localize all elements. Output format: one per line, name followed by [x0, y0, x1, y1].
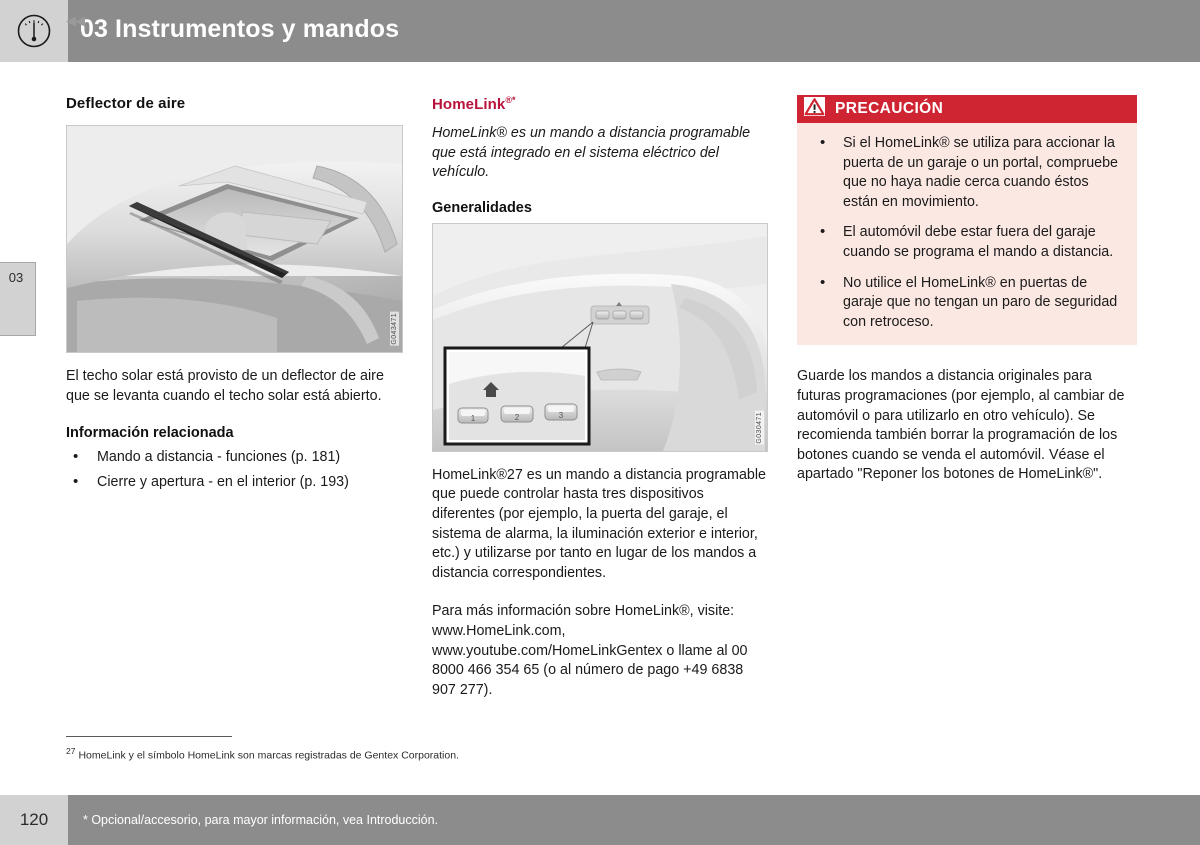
footer-note: * Opcional/accesorio, para mayor informa… — [83, 813, 438, 827]
footnote-body: HomeLink y el símbolo HomeLink son marca… — [78, 750, 459, 762]
sunroof-deflector-illustration: G043471 — [66, 125, 403, 353]
footnote-marker: 27 — [66, 746, 75, 756]
homelink-console-drawing: 1 2 3 — [433, 224, 767, 451]
back-double-arrow-icon[interactable]: ◀◀ — [66, 13, 84, 29]
svg-text:2: 2 — [515, 413, 520, 422]
related-info-heading: Información relacionada — [66, 425, 406, 441]
homelink-paragraph-1: HomeLink®27 es un mando a distancia prog… — [432, 466, 768, 584]
page-title: 03 Instrumentos y mandos — [80, 15, 399, 44]
homelink-paragraph-2: Para más información sobre HomeLink®, vi… — [432, 602, 768, 700]
footnote: 27HomeLink y el símbolo HomeLink son mar… — [66, 736, 626, 763]
page-header: 03 Instrumentos y mandos — [0, 0, 1200, 62]
header-icon-cell — [0, 0, 68, 62]
page-number-cell: 120 — [0, 795, 68, 845]
related-info-list: Mando a distancia - funciones (p. 181) C… — [66, 448, 406, 492]
left-section-heading: Deflector de aire — [66, 95, 406, 112]
warning-list: Si el HomeLink® se utiliza para accionar… — [797, 134, 1125, 332]
figure-id-label: G030471 — [755, 411, 764, 445]
list-item: No utilice el HomeLink® en puertas de ga… — [797, 274, 1125, 333]
page-body: Deflector de aire — [0, 62, 1200, 782]
sunroof-deflector-drawing — [67, 126, 402, 352]
figure-id-label: G043471 — [390, 312, 399, 346]
list-item[interactable]: Mando a distancia - funciones (p. 181) — [66, 448, 406, 468]
svg-text:3: 3 — [559, 411, 564, 420]
middle-column: HomeLink®* HomeLink® es un mando a dista… — [432, 95, 768, 700]
homelink-intro-paragraph: HomeLink® es un mando a distancia progra… — [432, 124, 768, 183]
footer-bar: * Opcional/accesorio, para mayor informa… — [68, 795, 1200, 845]
list-item: Si el HomeLink® se utiliza para accionar… — [797, 134, 1125, 212]
right-paragraph: Guarde los mandos a distancia originales… — [797, 367, 1137, 485]
list-item[interactable]: Cierre y apertura - en el interior (p. 1… — [66, 473, 406, 493]
list-item: El automóvil debe estar fuera del garaje… — [797, 223, 1125, 262]
warning-triangle-icon — [804, 97, 825, 121]
footnote-text: 27HomeLink y el símbolo HomeLink son mar… — [66, 744, 626, 763]
left-column: Deflector de aire — [66, 95, 406, 497]
homelink-heading: HomeLink®* — [432, 95, 768, 113]
page-footer: 120 * Opcional/accesorio, para mayor inf… — [0, 795, 1200, 845]
footnote-rule — [66, 736, 232, 737]
homelink-heading-text: HomeLink — [432, 96, 505, 113]
page-number: 120 — [20, 810, 48, 830]
right-column: PRECAUCIÓN Si el HomeLink® se utiliza pa… — [797, 95, 1137, 485]
warning-box: PRECAUCIÓN Si el HomeLink® se utiliza pa… — [797, 95, 1137, 345]
left-paragraph: El techo solar está provisto de un defle… — [66, 367, 406, 406]
svg-text:1: 1 — [471, 414, 476, 423]
gauge-icon — [17, 14, 51, 48]
warning-header: PRECAUCIÓN — [797, 95, 1137, 123]
warning-body: Si el HomeLink® se utiliza para accionar… — [797, 123, 1137, 345]
homelink-buttons-illustration: 1 2 3 G030471 — [432, 223, 768, 452]
generalidades-heading: Generalidades — [432, 200, 768, 216]
homelink-heading-superscript: ®* — [505, 95, 515, 105]
warning-title: PRECAUCIÓN — [835, 100, 943, 118]
